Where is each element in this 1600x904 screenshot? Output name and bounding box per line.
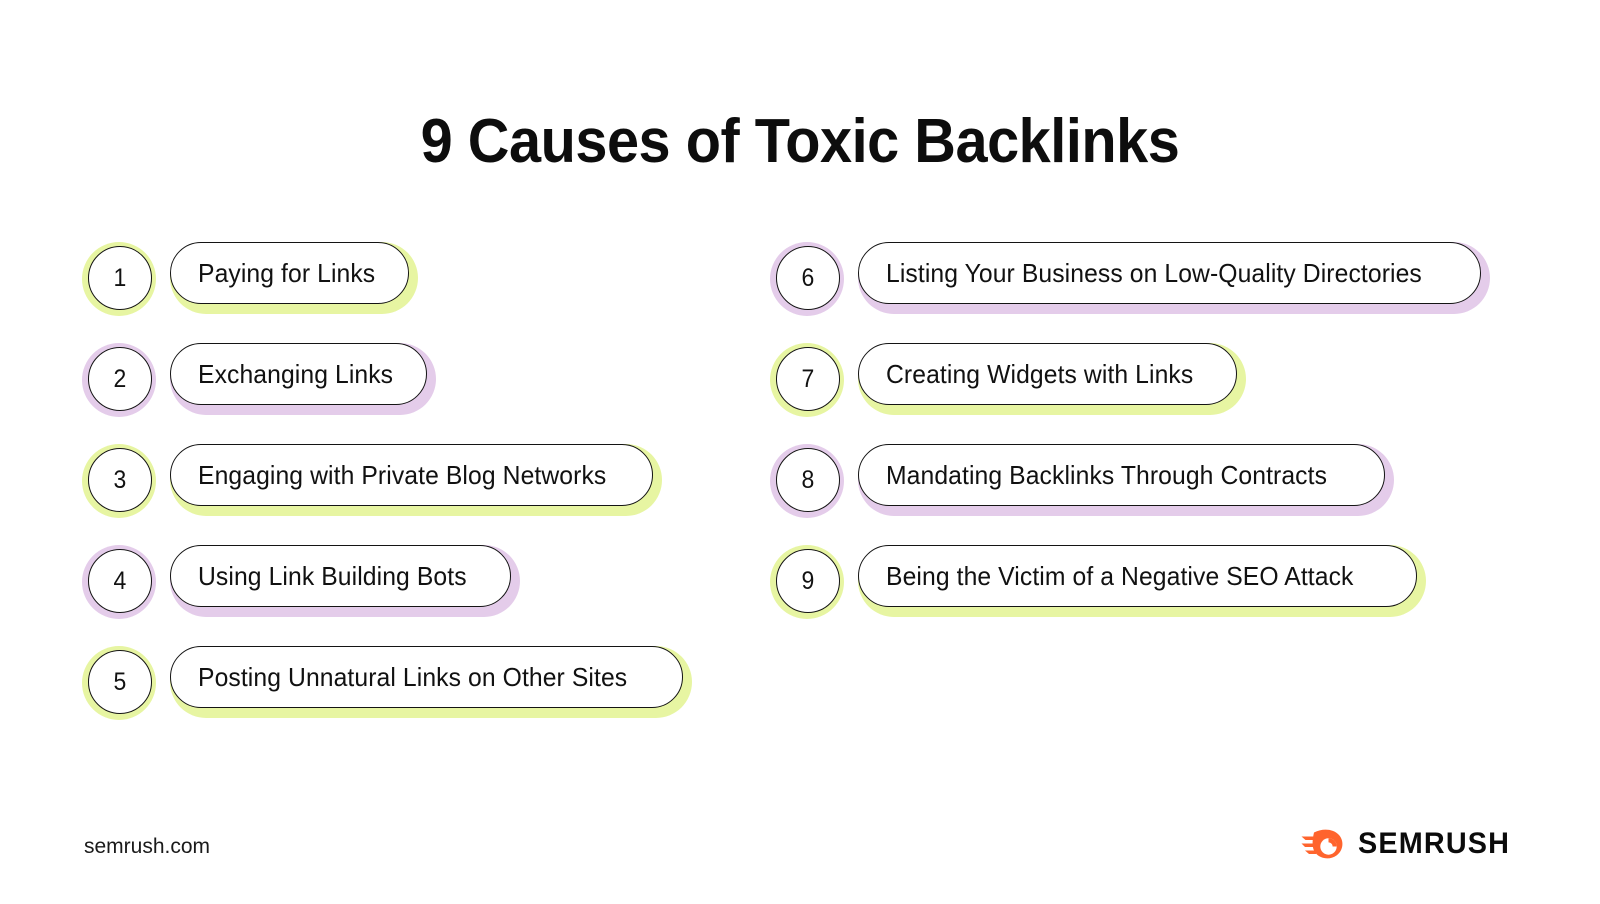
semrush-wordmark: SEMRUSH <box>1358 829 1510 859</box>
cause-label: Using Link Building Bots <box>198 561 467 591</box>
cause-number: 5 <box>114 670 127 695</box>
cause-pill[interactable]: Using Link Building Bots <box>170 545 520 617</box>
pill-face: Engaging with Private Blog Networks <box>170 444 653 506</box>
cause-number-badge: 3 <box>82 444 156 518</box>
cause-number: 1 <box>114 266 127 291</box>
pill-face: Posting Unnatural Links on Other Sites <box>170 646 683 708</box>
cause-pill[interactable]: Engaging with Private Blog Networks <box>170 444 662 516</box>
cause-item[interactable]: 3Engaging with Private Blog Networks <box>82 440 692 541</box>
cause-number: 6 <box>802 266 815 291</box>
causes-list: 1Paying for Links2Exchanging Links3Engag… <box>0 238 1600 738</box>
cause-number: 8 <box>802 468 815 493</box>
cause-number-badge: 7 <box>770 343 844 417</box>
cause-pill[interactable]: Paying for Links <box>170 242 418 314</box>
cause-item[interactable]: 9Being the Victim of a Negative SEO Atta… <box>770 541 1490 642</box>
cause-number-badge: 8 <box>770 444 844 518</box>
semrush-logo: SEMRUSH <box>1301 827 1516 861</box>
cause-pill[interactable]: Listing Your Business on Low-Quality Dir… <box>858 242 1490 314</box>
badge-face: 6 <box>776 246 840 310</box>
badge-face: 7 <box>776 347 840 411</box>
cause-number-badge: 5 <box>82 646 156 720</box>
footer-site-url: semrush.com <box>84 834 210 860</box>
cause-label: Creating Widgets with Links <box>886 359 1193 389</box>
pill-face: Paying for Links <box>170 242 409 304</box>
pill-face: Being the Victim of a Negative SEO Attac… <box>858 545 1417 607</box>
cause-number: 7 <box>802 367 815 392</box>
cause-label: Mandating Backlinks Through Contracts <box>886 460 1327 490</box>
cause-item[interactable]: 5Posting Unnatural Links on Other Sites <box>82 642 692 743</box>
pill-face: Exchanging Links <box>170 343 427 405</box>
cause-pill[interactable]: Creating Widgets with Links <box>858 343 1246 415</box>
cause-item[interactable]: 4Using Link Building Bots <box>82 541 692 642</box>
page-title: 9 Causes of Toxic Backlinks <box>56 104 1544 180</box>
badge-face: 8 <box>776 448 840 512</box>
cause-number-badge: 9 <box>770 545 844 619</box>
infographic-page: 9 Causes of Toxic Backlinks 1Paying for … <box>0 0 1600 904</box>
pill-face: Listing Your Business on Low-Quality Dir… <box>858 242 1481 304</box>
cause-number-badge: 2 <box>82 343 156 417</box>
cause-number: 2 <box>114 367 127 392</box>
pill-face: Mandating Backlinks Through Contracts <box>858 444 1385 506</box>
badge-face: 5 <box>88 650 152 714</box>
cause-pill[interactable]: Posting Unnatural Links on Other Sites <box>170 646 692 718</box>
badge-face: 2 <box>88 347 152 411</box>
cause-item[interactable]: 1Paying for Links <box>82 238 692 339</box>
cause-number-badge: 1 <box>82 242 156 316</box>
cause-number: 3 <box>114 468 127 493</box>
cause-pill[interactable]: Mandating Backlinks Through Contracts <box>858 444 1394 516</box>
cause-item[interactable]: 7Creating Widgets with Links <box>770 339 1490 440</box>
cause-item[interactable]: 6Listing Your Business on Low-Quality Di… <box>770 238 1490 339</box>
badge-face: 4 <box>88 549 152 613</box>
pill-face: Creating Widgets with Links <box>858 343 1237 405</box>
causes-column-right: 6Listing Your Business on Low-Quality Di… <box>770 238 1490 642</box>
badge-face: 9 <box>776 549 840 613</box>
pill-face: Using Link Building Bots <box>170 545 511 607</box>
cause-label: Being the Victim of a Negative SEO Attac… <box>886 561 1354 591</box>
cause-label: Listing Your Business on Low-Quality Dir… <box>886 258 1422 288</box>
cause-item[interactable]: 8Mandating Backlinks Through Contracts <box>770 440 1490 541</box>
cause-item[interactable]: 2Exchanging Links <box>82 339 692 440</box>
cause-number-badge: 4 <box>82 545 156 619</box>
badge-face: 3 <box>88 448 152 512</box>
cause-pill[interactable]: Being the Victim of a Negative SEO Attac… <box>858 545 1426 617</box>
cause-number: 9 <box>802 569 815 594</box>
causes-column-left: 1Paying for Links2Exchanging Links3Engag… <box>82 238 692 743</box>
cause-pill[interactable]: Exchanging Links <box>170 343 436 415</box>
cause-label: Exchanging Links <box>198 359 393 389</box>
cause-number-badge: 6 <box>770 242 844 316</box>
cause-label: Posting Unnatural Links on Other Sites <box>198 662 627 692</box>
cause-number: 4 <box>114 569 127 594</box>
semrush-comet-icon <box>1301 827 1345 861</box>
cause-label: Engaging with Private Blog Networks <box>198 460 606 490</box>
cause-label: Paying for Links <box>198 258 375 288</box>
badge-face: 1 <box>88 246 152 310</box>
